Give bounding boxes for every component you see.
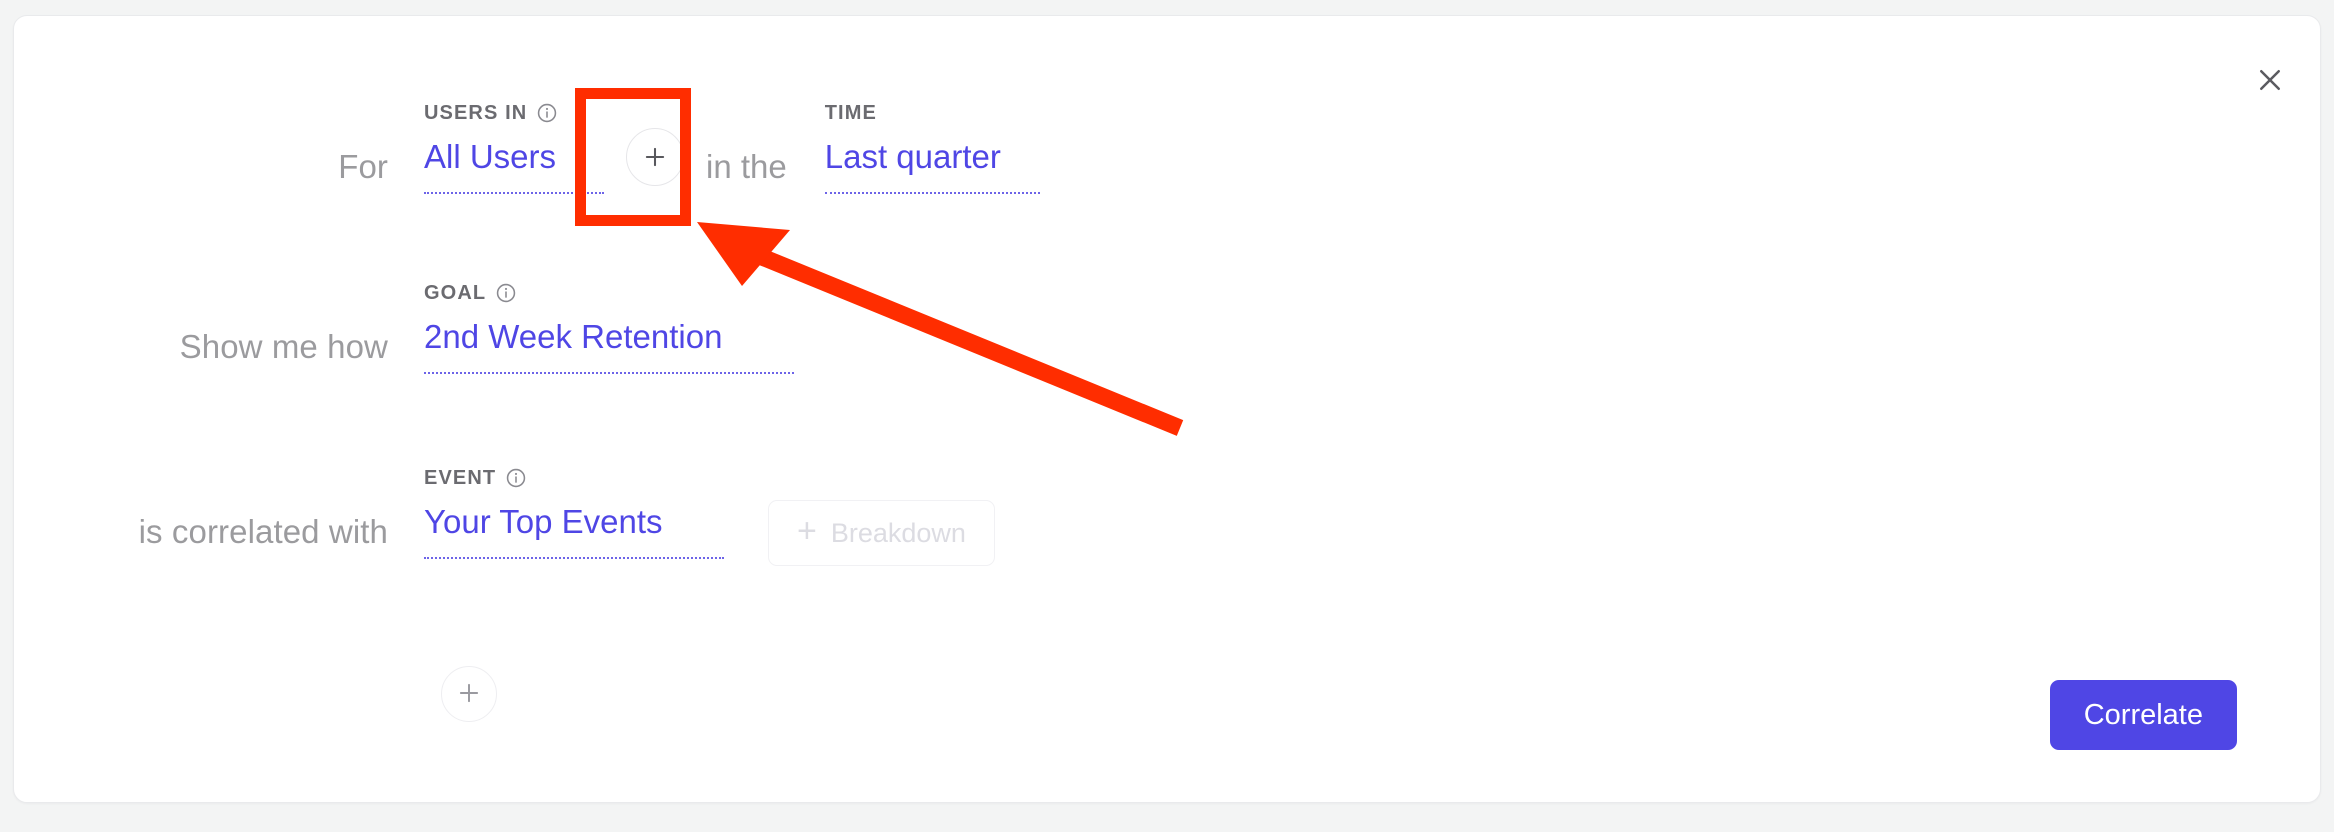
inline-add-filter-wrap	[626, 101, 684, 179]
row-prefix-for: For	[14, 101, 424, 189]
connector-in-the: in the	[706, 101, 787, 189]
query-row-goal: Show me how GOAL 2nd Week Retention	[14, 281, 794, 374]
query-builder-card: For USERS IN All Users	[13, 15, 2321, 803]
field-label-text: TIME	[825, 101, 877, 125]
event-value[interactable]: Your Top Events	[424, 500, 724, 559]
info-icon[interactable]	[495, 282, 517, 304]
breakdown-button[interactable]: + Breakdown	[768, 500, 995, 566]
plus-icon: +	[797, 514, 817, 548]
field-label-goal: GOAL	[424, 281, 517, 305]
field-label-text: GOAL	[424, 281, 486, 305]
field-event: EVENT Your Top Events	[424, 466, 724, 559]
close-button[interactable]	[2244, 54, 2296, 106]
query-row-event: is correlated with EVENT Your Top Event	[14, 466, 995, 566]
row-prefix-is-correlated-with: is correlated with	[14, 466, 424, 554]
info-icon[interactable]	[536, 102, 558, 124]
field-users-in: USERS IN All Users	[424, 101, 604, 194]
field-label-text: EVENT	[424, 466, 496, 490]
plus-icon	[642, 144, 668, 170]
row-prefix-show-me-how: Show me how	[14, 281, 424, 369]
field-time: TIME Last quarter	[825, 101, 1040, 194]
time-value[interactable]: Last quarter	[825, 135, 1040, 194]
correlate-button[interactable]: Correlate	[2050, 680, 2237, 750]
breakdown-label: Breakdown	[831, 520, 966, 547]
field-label-users-in: USERS IN	[424, 101, 558, 125]
goal-value[interactable]: 2nd Week Retention	[424, 315, 794, 374]
info-icon[interactable]	[505, 467, 527, 489]
field-label-time: TIME	[825, 101, 877, 125]
add-filter-button[interactable]	[626, 128, 684, 186]
field-label-event: EVENT	[424, 466, 527, 490]
field-goal: GOAL 2nd Week Retention	[424, 281, 794, 374]
add-step-button[interactable]	[441, 666, 497, 722]
close-icon	[2255, 65, 2285, 95]
field-label-text: USERS IN	[424, 101, 527, 125]
app-root: For USERS IN All Users	[0, 0, 2334, 832]
users-in-value[interactable]: All Users	[424, 135, 604, 194]
query-row-users: For USERS IN All Users	[14, 101, 1040, 194]
plus-icon	[456, 680, 482, 709]
